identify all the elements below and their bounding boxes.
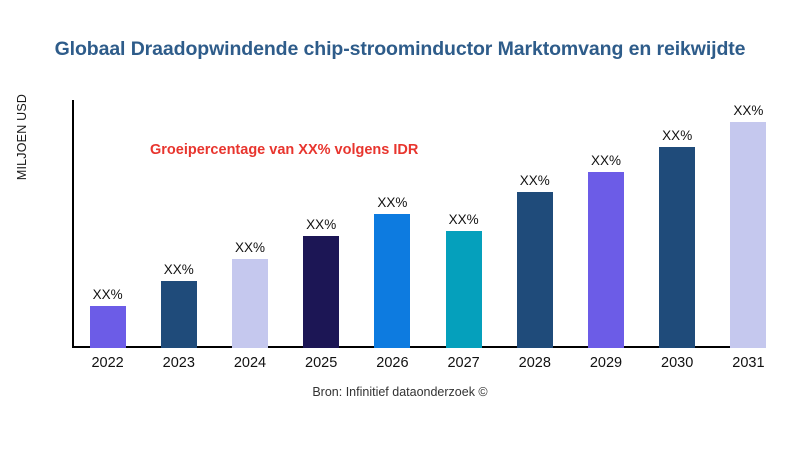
bar-group: XX% — [232, 100, 268, 348]
bar[interactable] — [90, 306, 126, 348]
bar-value-label: XX% — [164, 262, 194, 277]
bar-group: XX% — [161, 100, 197, 348]
x-axis-tick-labels: 2022202320242025202620272028202920302031 — [72, 355, 784, 379]
bar-value-label: XX% — [235, 240, 265, 255]
bar-group: XX% — [588, 100, 624, 348]
bar-group: XX% — [90, 100, 126, 348]
bar-group: XX% — [659, 100, 695, 348]
bar[interactable] — [517, 192, 553, 348]
x-axis-tick-label: 2023 — [143, 355, 214, 371]
x-axis-tick-label: 2030 — [642, 355, 713, 371]
x-axis-tick-label: 2025 — [286, 355, 357, 371]
x-axis-tick-label: 2029 — [570, 355, 641, 371]
bar[interactable] — [374, 214, 410, 348]
bar-group: XX% — [303, 100, 339, 348]
x-axis-tick-label: 2026 — [357, 355, 428, 371]
bar-group: XX% — [374, 100, 410, 348]
bar[interactable] — [303, 236, 339, 348]
chart-container: Globaal Draadopwindende chip-stroominduc… — [0, 0, 800, 450]
y-axis-label: MILJOEN USD — [15, 37, 29, 237]
bar-value-label: XX% — [520, 173, 550, 188]
x-axis-tick-label: 2022 — [72, 355, 143, 371]
x-axis-tick-label: 2027 — [428, 355, 499, 371]
bar-group: XX% — [517, 100, 553, 348]
source-note: Bron: Infinitief dataonderzoek © — [0, 385, 800, 399]
bar-group: XX% — [446, 100, 482, 348]
bar[interactable] — [161, 281, 197, 348]
chart-title: Globaal Draadopwindende chip-stroominduc… — [0, 38, 800, 61]
x-axis-tick-label: 2028 — [499, 355, 570, 371]
bars-layer: XX%XX%XX%XX%XX%XX%XX%XX%XX%XX% — [72, 100, 784, 348]
bar-value-label: XX% — [306, 217, 336, 232]
x-axis-tick-label: 2031 — [713, 355, 784, 371]
bar[interactable] — [588, 172, 624, 348]
bar-group: XX% — [730, 100, 766, 348]
x-axis-tick-label: 2024 — [214, 355, 285, 371]
bar-value-label: XX% — [93, 287, 123, 302]
bar[interactable] — [232, 259, 268, 348]
bar[interactable] — [446, 231, 482, 348]
bar[interactable] — [730, 122, 766, 348]
bar-value-label: XX% — [591, 153, 621, 168]
bar-value-label: XX% — [449, 212, 479, 227]
bar-value-label: XX% — [733, 103, 763, 118]
bar[interactable] — [659, 147, 695, 348]
bar-value-label: XX% — [377, 195, 407, 210]
bar-value-label: XX% — [662, 128, 692, 143]
